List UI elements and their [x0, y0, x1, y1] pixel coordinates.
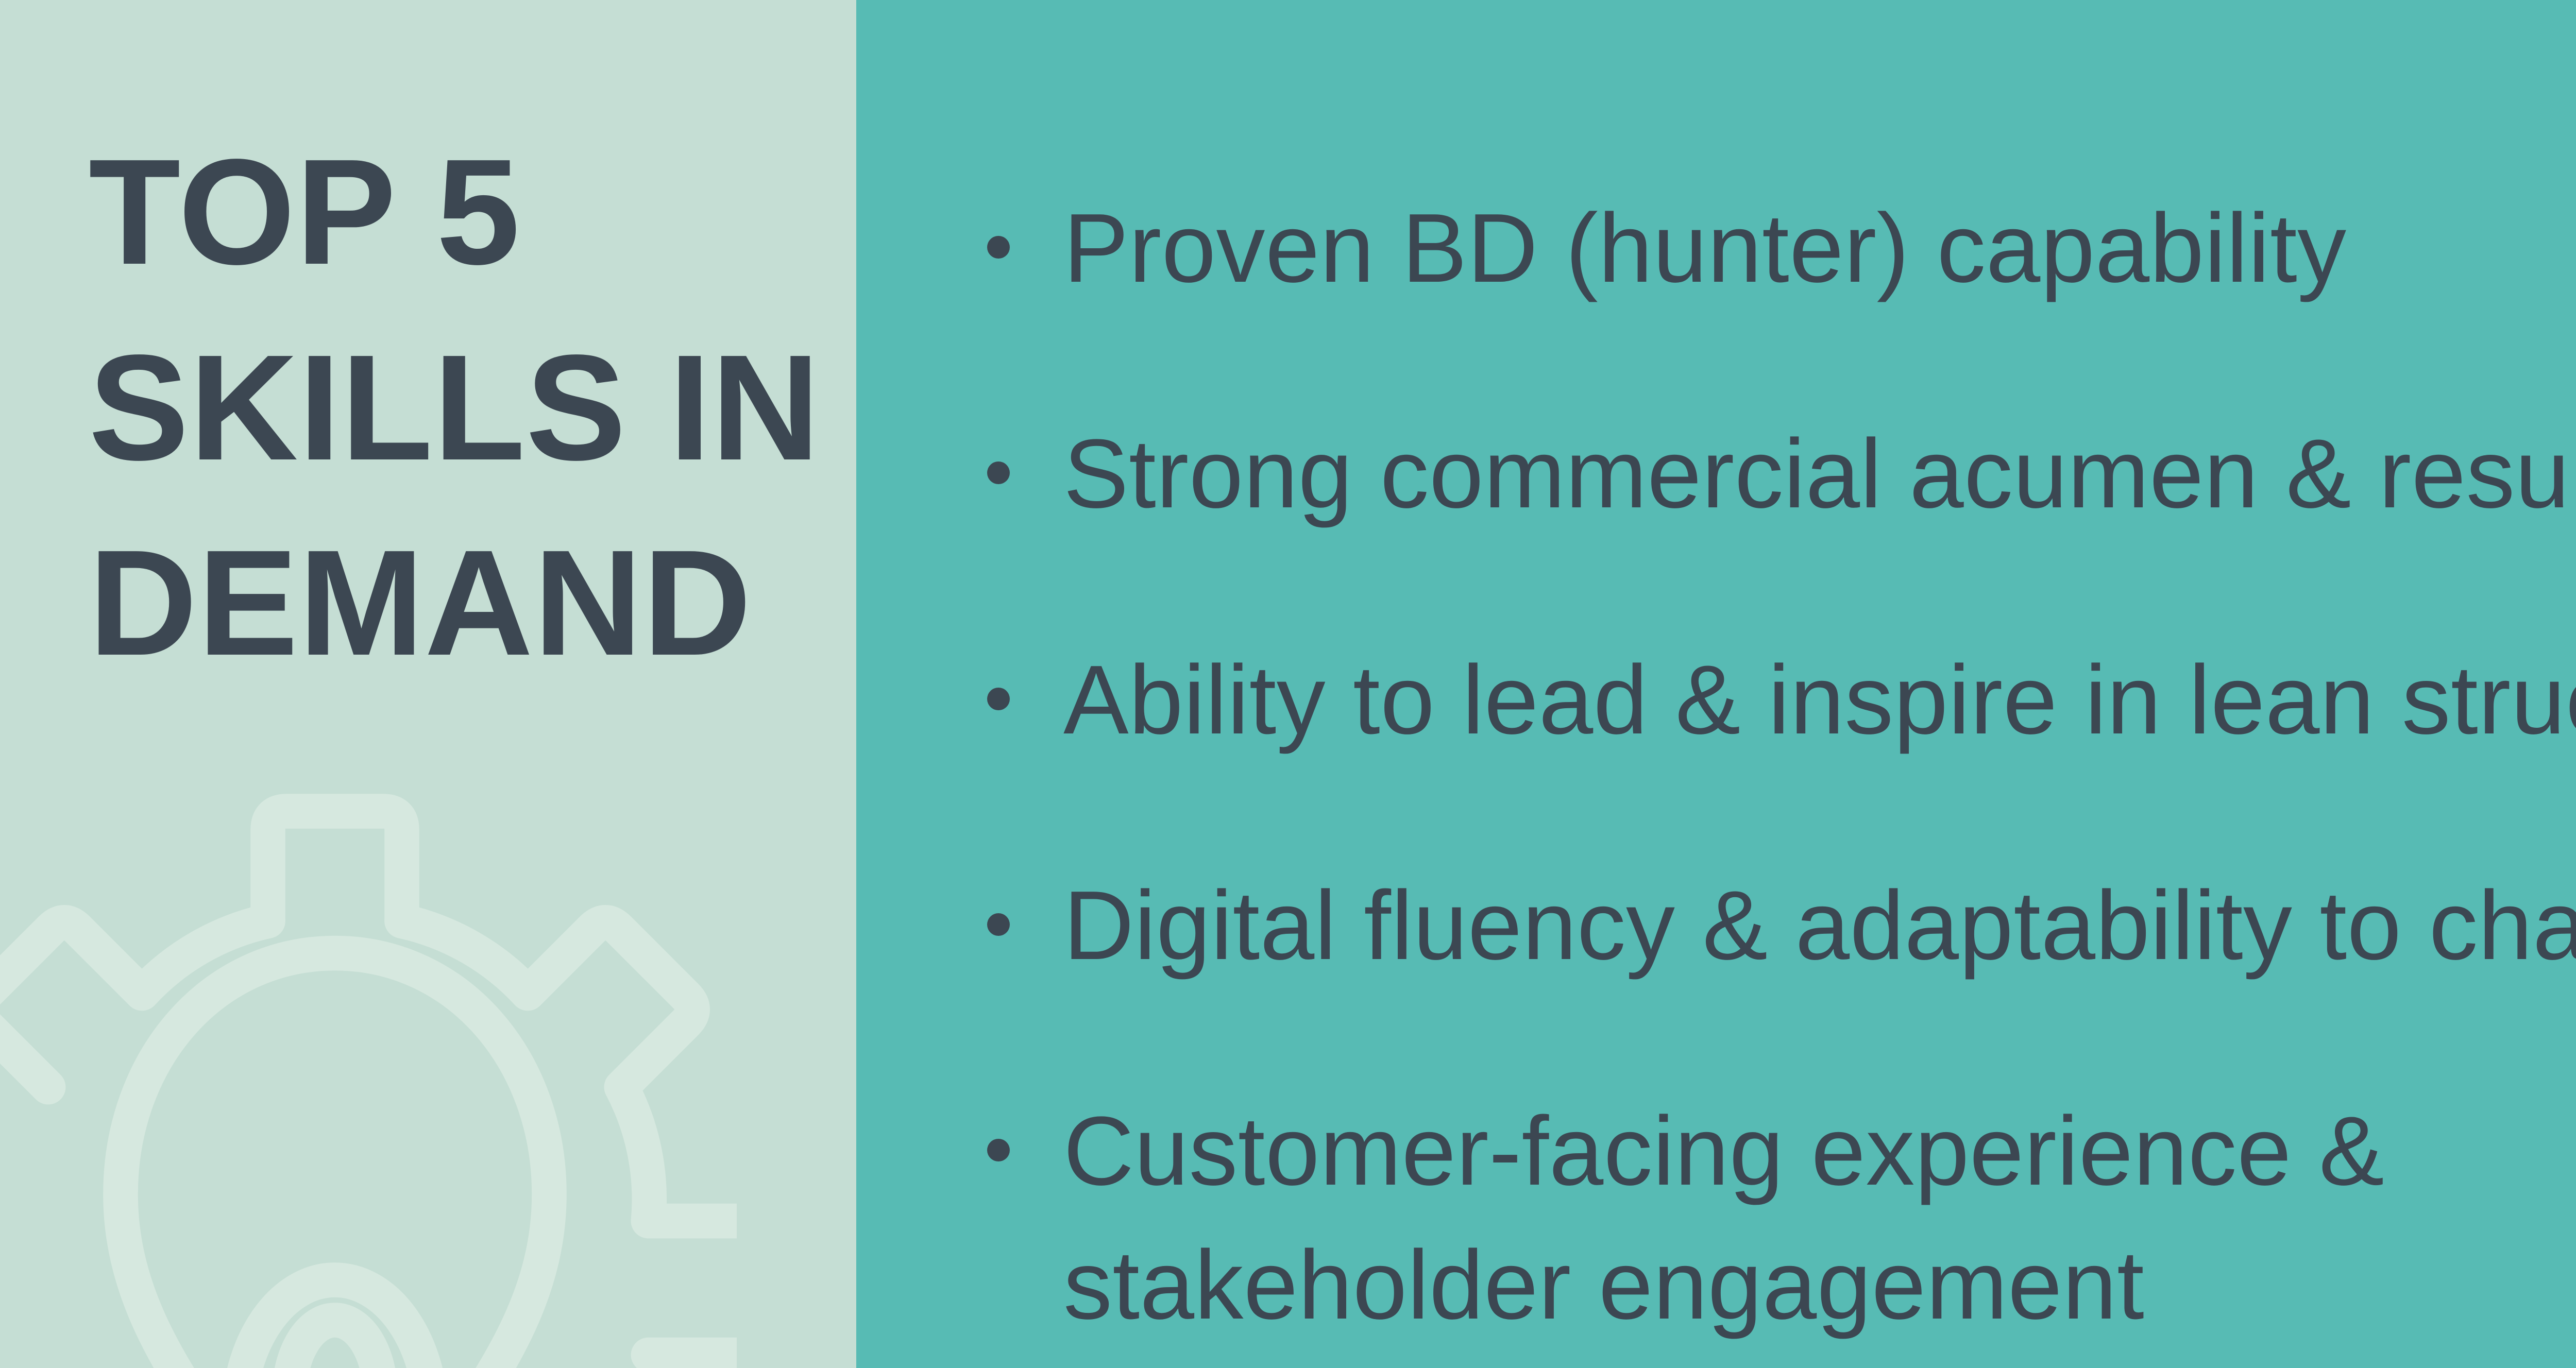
infographic-canvas: TOP 5 SKILLS IN DEMAND Proven BD (hunter… — [0, 0, 2576, 1368]
list-item: Proven BD (hunter) capability — [975, 181, 2576, 315]
gear-lightbulb-icon — [0, 744, 737, 1368]
list-item: Digital fluency & adaptability to change — [975, 859, 2576, 993]
list-item-label: Ability to lead & inspire in lean struct… — [1063, 633, 2576, 767]
list-item: Strong commercial acumen & results focus — [975, 407, 2576, 541]
bullet-dot-icon — [987, 236, 1010, 259]
list-item: Customer-facing experience & stakeholder… — [975, 1084, 2576, 1353]
left-panel: TOP 5 SKILLS IN DEMAND — [0, 0, 856, 1368]
list-item-label: Customer-facing experience & stakeholder… — [1063, 1084, 2576, 1353]
list-item-label: Proven BD (hunter) capability — [1063, 181, 2576, 315]
bullet-dot-icon — [987, 1139, 1010, 1161]
right-panel: Proven BD (hunter) capability Strong com… — [856, 0, 2576, 1368]
list-item-label: Strong commercial acumen & results focus — [1063, 407, 2576, 541]
list-item: Ability to lead & inspire in lean struct… — [975, 633, 2576, 767]
bullet-dot-icon — [987, 688, 1010, 710]
skills-list: Proven BD (hunter) capability Strong com… — [975, 181, 2576, 1353]
page-title: TOP 5 SKILLS IN DEMAND — [89, 114, 831, 701]
bullet-dot-icon — [987, 913, 1010, 936]
bullet-dot-icon — [987, 461, 1010, 484]
list-item-label: Digital fluency & adaptability to change — [1063, 859, 2576, 993]
